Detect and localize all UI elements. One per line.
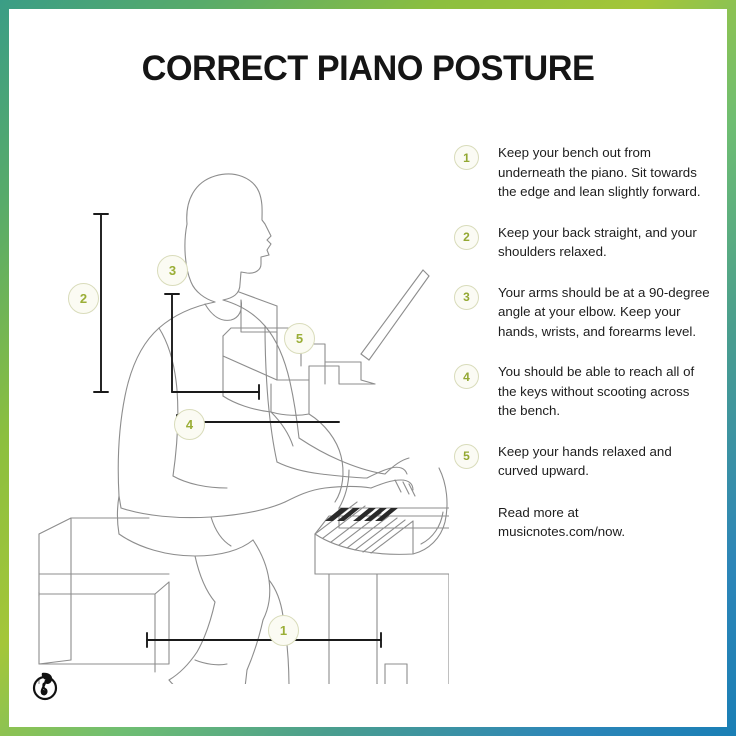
piano-posture-illustration [9,104,449,684]
tip-text-1: Keep your bench out from underneath the … [498,143,711,202]
read-more-url[interactable]: musicnotes.com/now. [498,522,711,542]
tip-text-2: Keep your back straight, and your should… [498,223,711,262]
list-item: 2 Keep your back straight, and your shou… [449,223,711,262]
tip-text-5: Keep your hands relaxed and curved upwar… [498,442,711,481]
musicnotes-logo [28,667,62,701]
tip-badge-1: 1 [454,145,479,170]
diagram-callout-2: 2 [68,283,99,314]
diagram-callout-3: 3 [157,255,188,286]
read-more-label: Read more at [498,503,711,523]
tip-text-3: Your arms should be at a 90-degree angle… [498,283,711,342]
tips-list: 1 Keep your bench out from underneath th… [449,143,711,542]
tip-badge-5: 5 [454,444,479,469]
tip-text-4: You should be able to reach all of the k… [498,362,711,421]
tip-badge-2: 2 [454,225,479,250]
list-item: 4 You should be able to reach all of the… [449,362,711,421]
diagram-callout-1: 1 [268,615,299,646]
poster-canvas: CORRECT PIANO POSTURE [9,9,727,727]
diagram-callout-4: 4 [174,409,205,440]
list-item: 5 Keep your hands relaxed and curved upw… [449,442,711,481]
list-item: 3 Your arms should be at a 90-degree ang… [449,283,711,342]
tip-badge-3: 3 [454,285,479,310]
read-more-block: Read more at musicnotes.com/now. [449,503,711,542]
page-title: CORRECT PIANO POSTURE [16,49,720,89]
diagram-callout-5: 5 [284,323,315,354]
tip-badge-4: 4 [454,364,479,389]
list-item: 1 Keep your bench out from underneath th… [449,143,711,202]
poster-frame: CORRECT PIANO POSTURE [0,0,736,736]
